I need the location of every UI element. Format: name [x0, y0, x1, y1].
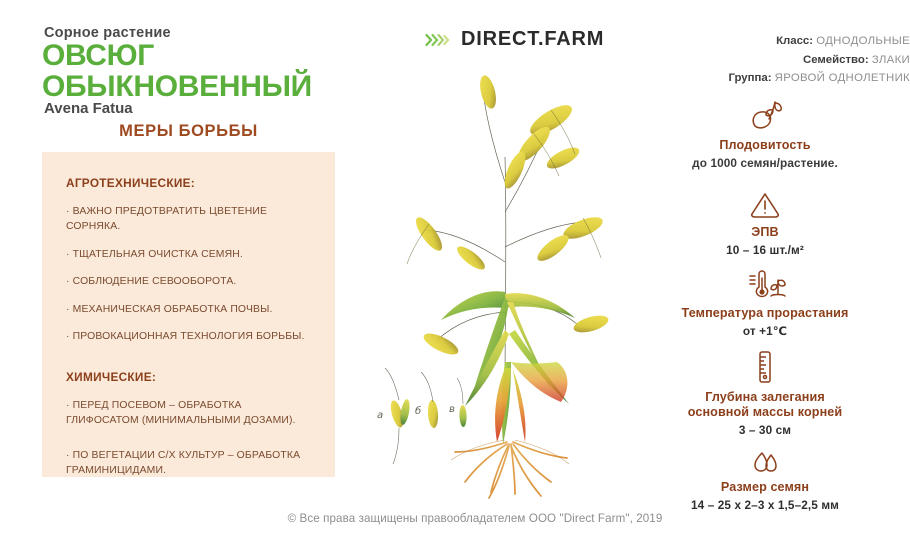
taxonomy-key: Группа: [728, 72, 771, 84]
stat-seed-size: Размер семян 14 – 25 x 2–3 x 1,5–2,5 мм [620, 440, 910, 512]
page-title-line2: ОБЫКНОВЕННЫЙ [42, 71, 362, 102]
taxonomy-row-family: Семейство: ЗЛАКИ [640, 51, 910, 70]
section-title-chemical: ХИМИЧЕСКИЕ: [66, 370, 315, 384]
stat-value: 10 – 16 шт./м² [620, 243, 910, 257]
brand-name: DIRECT.FARM [461, 28, 604, 51]
taxonomy-key: Семейство: [803, 54, 869, 66]
detail-label-a: a [377, 410, 383, 421]
list-item: · ТЩАТЕЛЬНАЯ ОЧИСТКА СЕМЯН. [66, 247, 315, 262]
taxonomy-row-class: Класс: ОДНОДОЛЬНЫЕ [640, 32, 910, 51]
list-item: · СОБЛЮДЕНИЕ СЕВООБОРОТА. [66, 274, 315, 289]
latin-name: Avena Fatua [44, 100, 133, 117]
thermometer-sprout-icon [620, 266, 910, 300]
stat-label: ЭПВ [620, 225, 910, 240]
list-item: · ПО ВЕГЕТАЦИИ С/Х КУЛЬТУР – ОБРАБОТКА Г… [66, 448, 315, 478]
page-title-line1: ОВСЮГ [42, 39, 154, 72]
list-item: · ПЕРЕД ПОСЕВОМ – ОБРАБОТКА ГЛИФОСАТОМ (… [66, 398, 315, 428]
right-column: Класс: ОДНОДОЛЬНЫЕ Семейство: ЗЛАКИ Груп… [620, 0, 910, 545]
taxonomy-value: ОДНОДОЛЬНЫЕ [816, 35, 910, 47]
detail-label-v: в [449, 404, 455, 415]
stat-label: Размер семян [620, 480, 910, 495]
measures-heading: МЕРЫ БОРЬБЫ [42, 122, 335, 141]
left-column: Сорное растение ОВСЮГ ОБЫКНОВЕННЫЙ Avena… [0, 0, 360, 545]
list-item: · ВАЖНО ПРЕДОТВРАТИТЬ ЦВЕТЕНИЕ СОРНЯКА. [66, 204, 315, 234]
stat-label: Температура прорастания [620, 306, 910, 321]
ruler-icon [620, 350, 910, 384]
detail-label-b: б [415, 405, 421, 417]
stat-label: Плодовитость [620, 138, 910, 153]
measures-panel: АГРОТЕХНИЧЕСКИЕ: · ВАЖНО ПРЕДОТВРАТИТЬ Ц… [42, 152, 335, 477]
stat-fertility: Плодовитость до 1000 семян/растение. [620, 98, 910, 170]
list-item: · МЕХАНИЧЕСКАЯ ОБРАБОТКА ПОЧВЫ. [66, 302, 315, 317]
two-seeds-icon [620, 440, 910, 474]
stat-label-line1: Глубина залегания [620, 390, 910, 405]
stat-threshold: ЭПВ 10 – 16 шт./м² [620, 185, 910, 257]
stat-label-line2: основной массы корней [620, 405, 910, 420]
stat-value: 3 – 30 см [620, 423, 910, 437]
stat-value: от +1℃ [620, 324, 910, 338]
avena-fatua-watercolor-illustration: a б в [355, 62, 655, 502]
taxonomy-key: Класс: [776, 35, 813, 47]
list-item: · ПРОВОКАЦИОННАЯ ТЕХНОЛОГИЯ БОРЬБЫ. [66, 329, 315, 344]
footer-copyright: © Все права защищены правообладателем ОО… [0, 512, 910, 525]
taxonomy-row-group: Группа: ЯРОВОЙ ОДНОЛЕТНИК [640, 69, 910, 88]
stat-temperature: Температура прорастания от +1℃ [620, 266, 910, 338]
taxonomy-block: Класс: ОДНОДОЛЬНЫЕ Семейство: ЗЛАКИ Груп… [640, 32, 910, 88]
section-title-agrotechnical: АГРОТЕХНИЧЕСКИЕ: [66, 176, 315, 190]
stat-value: 14 – 25 x 2–3 x 1,5–2,5 мм [620, 498, 910, 512]
stat-value: до 1000 семян/растение. [620, 156, 910, 170]
page-title: ОВСЮГ ОБЫКНОВЕННЫЙ [42, 40, 362, 102]
sprouting-seed-icon [620, 98, 910, 132]
taxonomy-value: ЗЛАКИ [872, 54, 910, 66]
taxonomy-value: ЯРОВОЙ ОДНОЛЕТНИК [775, 72, 910, 84]
stat-root-depth: Глубина залегания основной массы корней … [620, 350, 910, 437]
chevron-waves-icon [424, 30, 450, 50]
warning-triangle-icon [620, 185, 910, 219]
infographic-page: Сорное растение ОВСЮГ ОБЫКНОВЕННЫЙ Avena… [0, 0, 910, 545]
brand-logo: DIRECT.FARM [424, 28, 604, 51]
